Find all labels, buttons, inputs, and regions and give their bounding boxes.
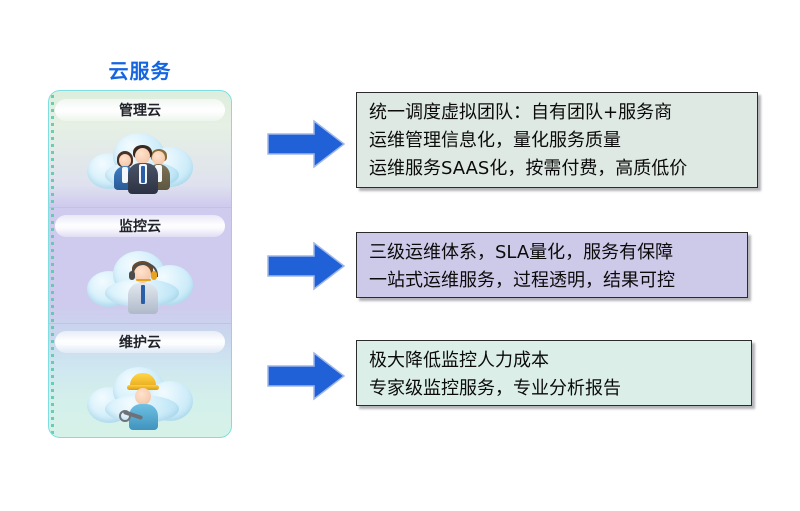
cloud-team-icon bbox=[87, 125, 197, 197]
section-label-monitoring: 监控云 bbox=[55, 215, 225, 237]
cloud-engineer-hardhat-icon bbox=[87, 359, 197, 431]
cloud-service-panel: 管理云 bbox=[48, 90, 232, 438]
section-label-management: 管理云 bbox=[55, 99, 225, 121]
callout-maintenance: 极大降低监控人力成本 专家级监控服务，专业分析报告 bbox=[356, 340, 752, 406]
cloud-operator-headset-icon bbox=[87, 243, 197, 315]
page-title: 云服务 bbox=[48, 55, 232, 84]
callout-monitoring: 三级运维体系，SLA量化，服务有保障 一站式运维服务，过程透明，结果可控 bbox=[356, 232, 748, 298]
callout-management: 统一调度虚拟团队：自有团队+服务商 运维管理信息化，量化服务质量 运维服务SAA… bbox=[356, 92, 758, 188]
cloud-section-maintenance[interactable]: 维护云 bbox=[49, 323, 232, 438]
callout-line: 一站式运维服务，过程透明，结果可控 bbox=[369, 267, 737, 295]
arrow-right-2 bbox=[266, 240, 346, 292]
arrow-right-1 bbox=[266, 118, 346, 170]
cloud-section-monitoring[interactable]: 监控云 bbox=[49, 207, 232, 323]
arrow-right-3 bbox=[266, 350, 346, 402]
callout-line: 极大降低监控人力成本 bbox=[369, 347, 741, 375]
callout-line: 三级运维体系，SLA量化，服务有保障 bbox=[369, 239, 737, 267]
callout-line: 专家级监控服务，专业分析报告 bbox=[369, 375, 741, 403]
section-label-maintenance: 维护云 bbox=[55, 331, 225, 353]
cloud-section-management[interactable]: 管理云 bbox=[49, 91, 232, 207]
slide-canvas: 云服务 管理云 bbox=[0, 0, 800, 511]
callout-line: 运维服务SAAS化，按需付费，高质低价 bbox=[369, 155, 747, 183]
callout-line: 统一调度虚拟团队：自有团队+服务商 bbox=[369, 99, 747, 127]
callout-line: 运维管理信息化，量化服务质量 bbox=[369, 127, 747, 155]
